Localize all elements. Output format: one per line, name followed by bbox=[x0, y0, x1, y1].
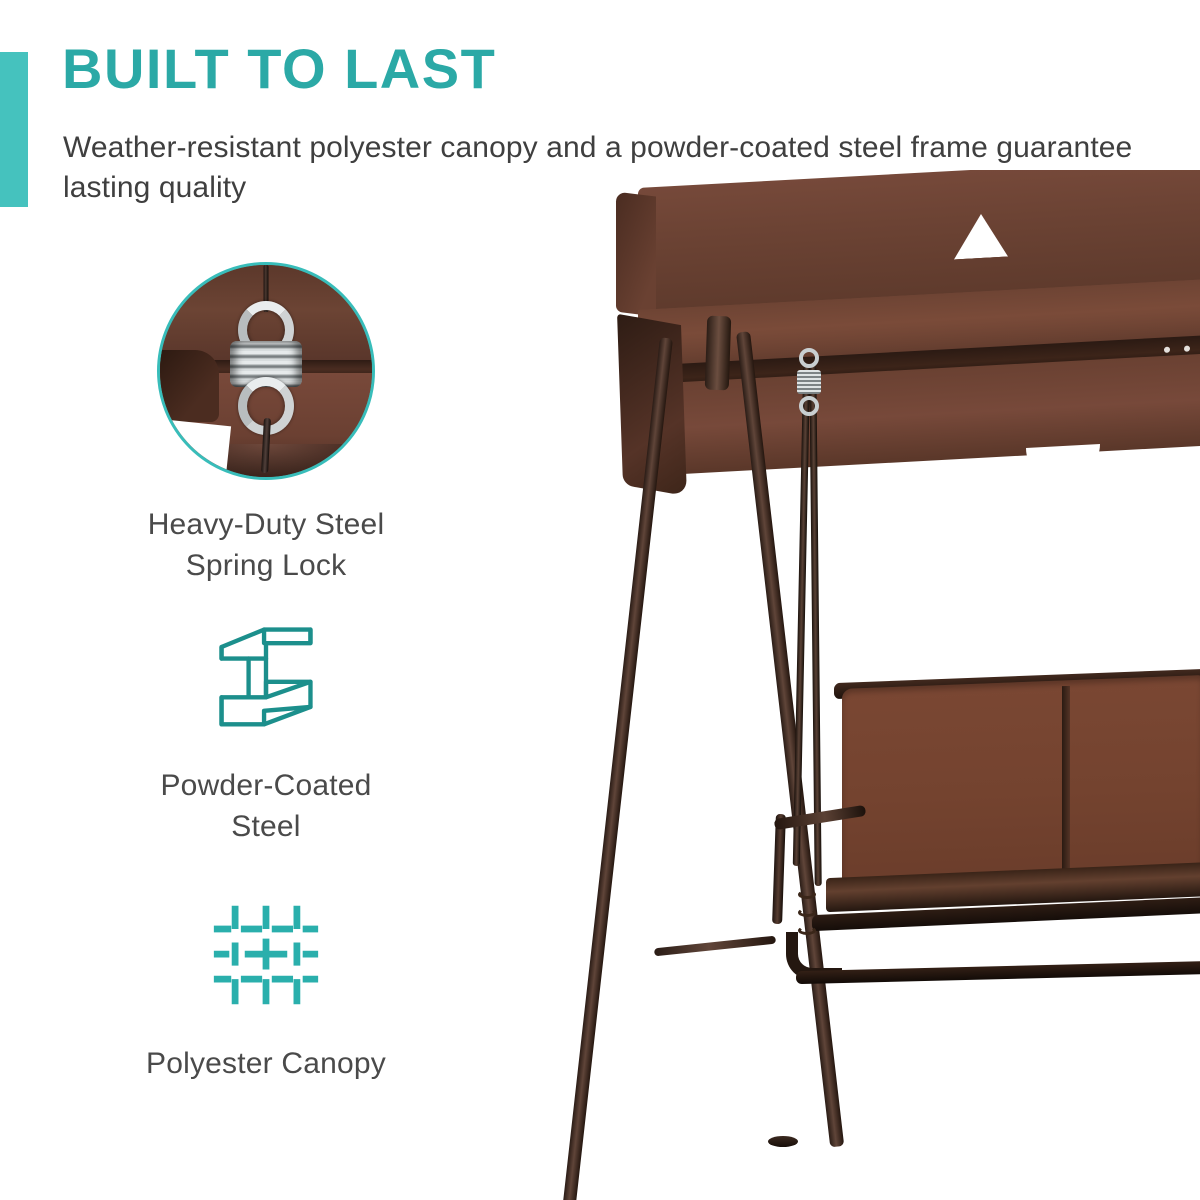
i-beam-icon bbox=[208, 618, 324, 739]
frame-foot-rear bbox=[768, 1136, 798, 1147]
frame-leg-front bbox=[560, 337, 673, 1200]
spring-coil bbox=[797, 370, 821, 394]
frame-top-joint bbox=[705, 316, 732, 391]
feature-powder-coated-steel-label: Powder-Coated Steel bbox=[160, 765, 371, 848]
product-photo bbox=[560, 170, 1200, 1200]
photo-corner-mask bbox=[157, 418, 231, 480]
feature-polyester-canopy-label: Polyester Canopy bbox=[146, 1043, 386, 1084]
spring-ring-bottom bbox=[799, 396, 819, 416]
accent-bar bbox=[0, 52, 28, 207]
feature-powder-coated-steel-label-line1: Powder-Coated bbox=[160, 765, 371, 806]
spring-ring-top bbox=[799, 348, 819, 368]
feature-spring-lock-label: Heavy-Duty Steel Spring Lock bbox=[148, 504, 385, 587]
seat-arm-post bbox=[772, 814, 786, 924]
feature-powder-coated-steel-label-line2: Steel bbox=[160, 806, 371, 847]
feature-polyester-canopy-label-line1: Polyester Canopy bbox=[146, 1043, 386, 1084]
page-title: BUILT TO LAST bbox=[62, 40, 762, 99]
spring-lock-hardware bbox=[796, 348, 822, 420]
seat-back-divider bbox=[1062, 686, 1070, 880]
feature-polyester-canopy: Polyester Canopy bbox=[40, 900, 492, 1084]
seat-bottom-rail bbox=[796, 961, 1200, 984]
canopy-fold bbox=[157, 350, 219, 422]
frame-cross-brace bbox=[654, 936, 776, 957]
woven-fabric-icon bbox=[208, 900, 324, 1017]
feature-spring-lock-label-line1: Heavy-Duty Steel bbox=[148, 504, 385, 545]
canopy-valance-notch bbox=[1026, 444, 1100, 482]
spring-lock-photo-icon bbox=[157, 262, 375, 480]
feature-spring-lock: Heavy-Duty Steel Spring Lock bbox=[40, 262, 492, 587]
promo-banner: BUILT TO LAST Weather-resistant polyeste… bbox=[0, 0, 1200, 1200]
feature-powder-coated-steel: Powder-Coated Steel bbox=[40, 618, 492, 848]
seat-back-fabric bbox=[842, 675, 1200, 889]
feature-spring-lock-label-line2: Spring Lock bbox=[148, 545, 385, 586]
